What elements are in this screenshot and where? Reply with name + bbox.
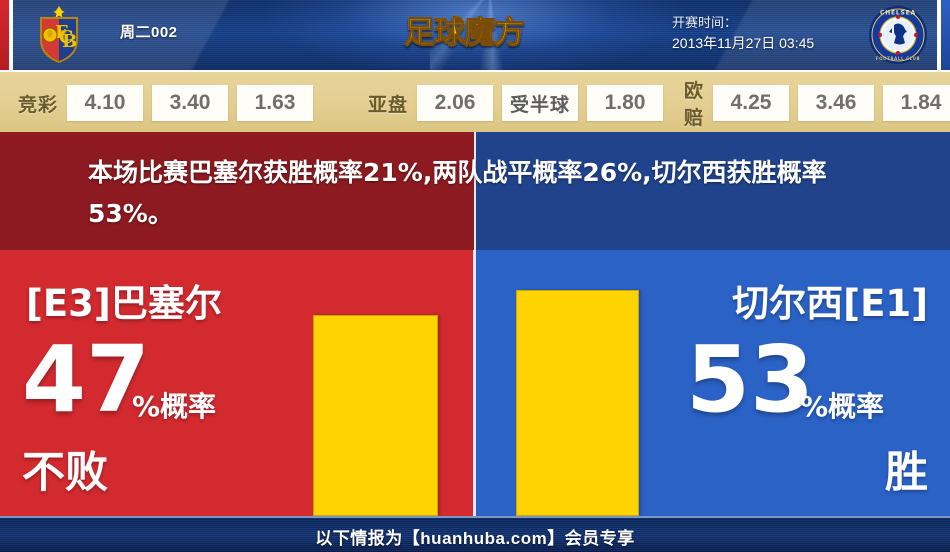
footer-bar: 以下情报为【huanhuba.com】会员专享: [0, 516, 950, 552]
header-right-blue-stripe: [941, 0, 950, 70]
odds-cell-home[interactable]: 2.06: [417, 85, 493, 121]
odds-cell-home[interactable]: 4.10: [67, 85, 143, 121]
home-probability-value: 47: [22, 334, 150, 426]
footer-text: 以下情报为【huanhuba.com】会员专享: [315, 524, 634, 549]
svg-text:FOOTBALL CLUB: FOOTBALL CLUB: [876, 56, 920, 61]
odds-group-label: 竞彩: [18, 90, 58, 117]
home-team-name: [E3]巴塞尔: [26, 273, 222, 327]
away-outcome-label: 胜: [885, 438, 928, 500]
kickoff-info: 开赛时间： 2013年11月27日 03:45: [672, 12, 814, 54]
odds-cell-away[interactable]: 1.63: [237, 85, 313, 121]
away-probability-bar: [516, 290, 639, 516]
match-header: F B C 周二002 足球魔方 开赛时间： 2013年11月27日 03:45: [0, 0, 950, 70]
odds-group-label: 亚盘: [368, 90, 408, 117]
header-left-red-stripe: [0, 0, 9, 70]
odds-group-label: 欧赔: [684, 76, 704, 130]
panel-divider: [473, 250, 476, 516]
odds-group-yapan: 亚盘 2.06 受半球 1.80: [368, 72, 663, 134]
probability-statement-text: 本场比赛巴塞尔获胜概率21%,两队战平概率26%,切尔西获胜概率53%。: [88, 152, 878, 234]
svg-text:C: C: [59, 27, 73, 48]
away-probability-value: 53: [686, 334, 814, 426]
match-probability-infographic: F B C 周二002 足球魔方 开赛时间： 2013年11月27日 03:45: [0, 0, 950, 552]
odds-group-oupei: 欧赔 4.25 3.46 1.84: [684, 72, 950, 134]
probability-statement-banner: 本场比赛巴塞尔获胜概率21%,两队战平概率26%,切尔西获胜概率53%。: [0, 132, 950, 250]
home-probability-unit: %概率: [132, 385, 216, 425]
home-probability-bar: [313, 315, 438, 516]
odds-cell-away[interactable]: 1.84: [883, 85, 950, 121]
away-team-name: 切尔西[E1]: [732, 273, 928, 327]
odds-cell-handicap[interactable]: 受半球: [502, 85, 578, 121]
kickoff-label: 开赛时间：: [672, 12, 814, 33]
svg-text:CHELSEA: CHELSEA: [880, 10, 916, 17]
kickoff-time: 2013年11月27日 03:45: [672, 33, 814, 54]
odds-cell-draw[interactable]: 3.46: [798, 85, 874, 121]
header-right-gap: [937, 0, 941, 70]
site-logo: 足球魔方: [404, 8, 564, 58]
odds-cell-away[interactable]: 1.80: [587, 85, 663, 121]
away-probability-unit: %概率: [800, 385, 884, 425]
site-logo-text: 足球魔方: [404, 8, 564, 58]
match-number: 周二002: [120, 21, 178, 42]
odds-group-jingcai: 竞彩 4.10 3.40 1.63: [18, 72, 313, 134]
odds-cell-home[interactable]: 4.25: [713, 85, 789, 121]
odds-cell-draw[interactable]: 3.40: [152, 85, 228, 121]
chelsea-crest-icon: CHELSEA FOOTBALL CLUB: [868, 5, 928, 65]
header-left-gap: [9, 0, 13, 70]
basel-crest-icon: F B C: [28, 4, 90, 66]
odds-bar: 竞彩 4.10 3.40 1.63 亚盘 2.06 受半球 1.80 欧赔 4.…: [0, 70, 950, 134]
home-outcome-label: 不败: [22, 438, 108, 500]
probability-chart: [E3]巴塞尔 47 %概率 不败 切尔西[E1] 53 %概率 胜: [0, 250, 950, 516]
